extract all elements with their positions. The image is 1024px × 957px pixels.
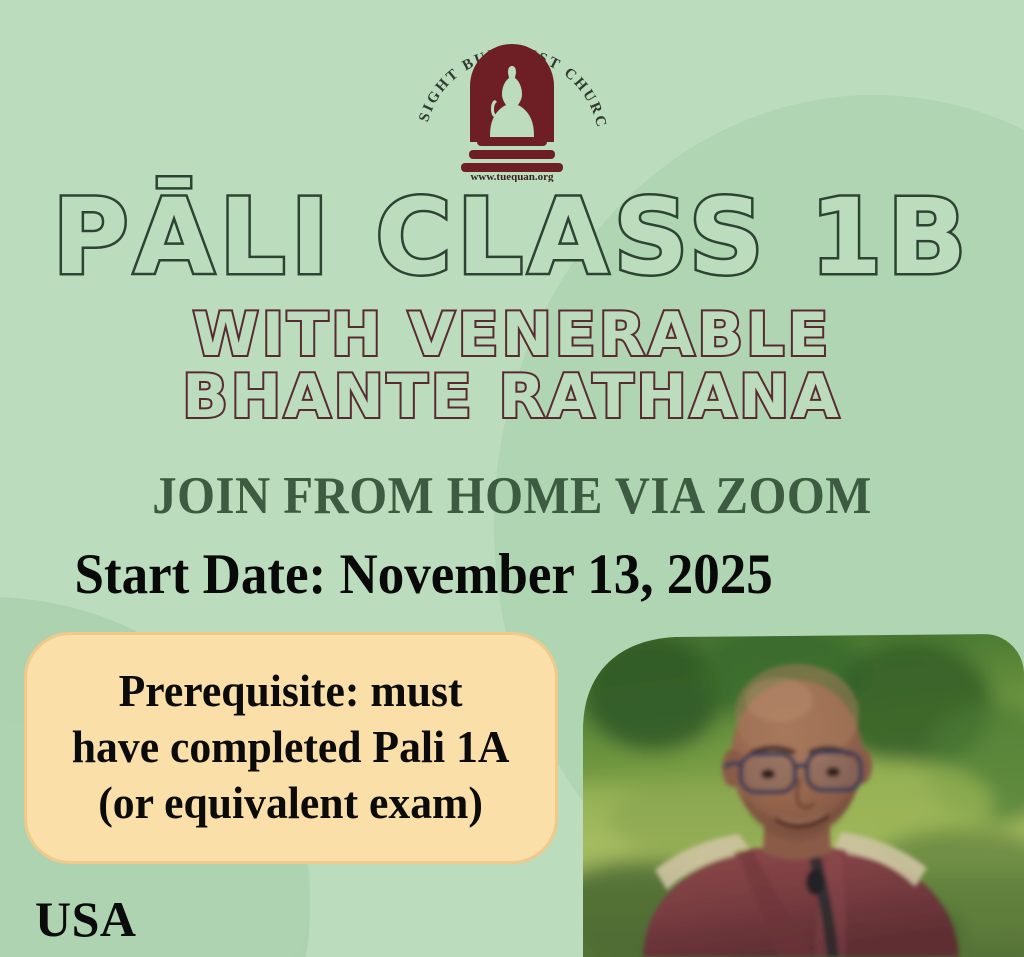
prerequisite-text-block: Prerequisite: must have completed Pali 1… [72, 664, 510, 831]
page-title-text: PĀLI CLASS 1B [53, 185, 972, 289]
country-label: USA [35, 890, 137, 948]
subtitle-line-1: WITH VENERABLE [0, 305, 1024, 367]
page-subtitle: WITH VENERABLE BHANTE RATHANA [0, 305, 1024, 429]
start-date-text: Start Date: November 13, 2025 [36, 542, 988, 607]
subtitle-line-2: BHANTE RATHANA [0, 367, 1024, 429]
instructor-photo [583, 634, 1024, 957]
delivery-mode-text: JOIN FROM HOME VIA ZOOM [41, 466, 983, 526]
prerequisite-line-2: have completed Pali 1A [72, 720, 510, 776]
prerequisite-line-1: Prerequisite: must [72, 664, 510, 720]
page-title: PĀLI CLASS 1B [0, 185, 1024, 289]
prerequisite-callout: Prerequisite: must have completed Pali 1… [24, 632, 558, 864]
church-logo: INSIGHT BUDDHIST CHURCH www.tuequan.org [407, 14, 617, 182]
prerequisite-line-3: (or equivalent exam) [72, 776, 510, 832]
poster-canvas: INSIGHT BUDDHIST CHURCH www.tuequan.org … [0, 0, 1024, 957]
